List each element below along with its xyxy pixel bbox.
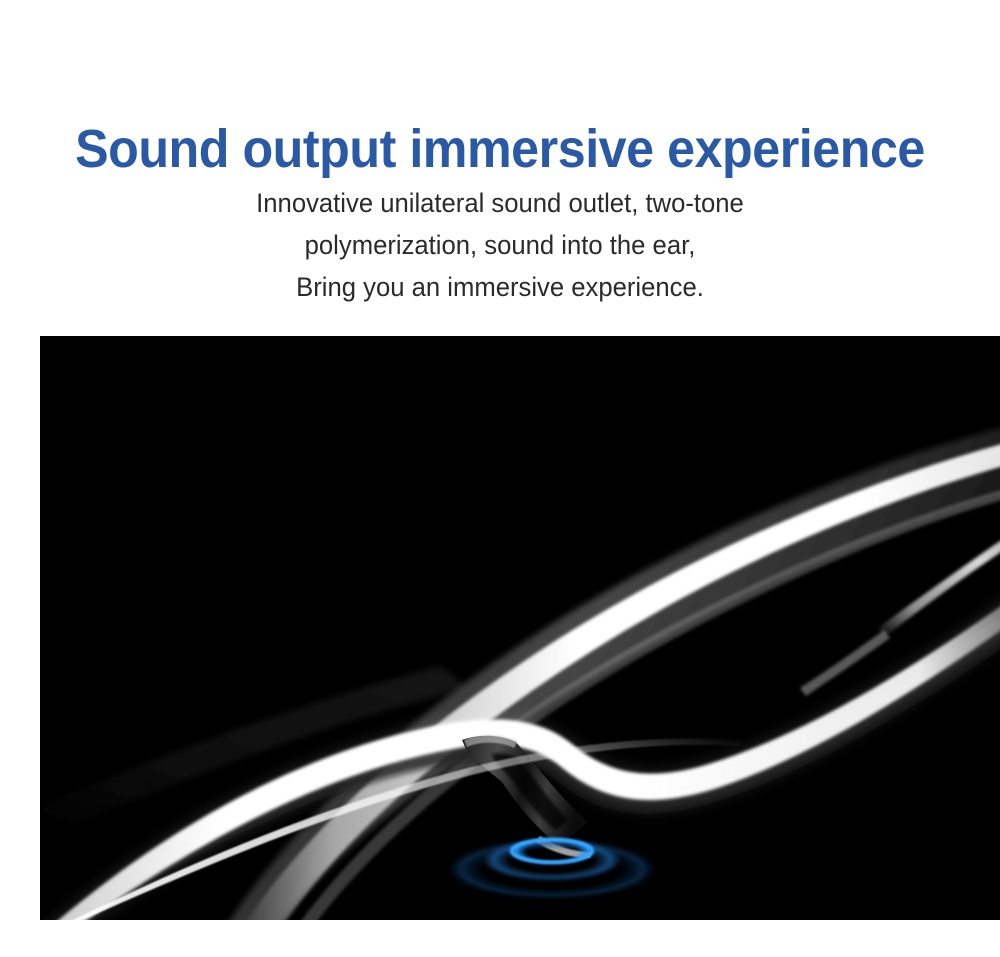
subtitle-line-3: Bring you an immersive experience.	[25, 266, 975, 308]
subtitle-block: Innovative unilateral sound outlet, two-…	[25, 182, 975, 308]
page-title: Sound output immersive experience	[35, 120, 965, 178]
product-feature-page: Sound output immersive experience Innova…	[0, 0, 1000, 957]
product-photo	[40, 336, 1000, 936]
subtitle-line-1: Innovative unilateral sound outlet, two-…	[25, 182, 975, 224]
text-section: Sound output immersive experience Innova…	[0, 0, 1000, 320]
product-photo-illustration	[40, 336, 1000, 936]
subtitle-line-2: polymerization, sound into the ear,	[25, 224, 975, 266]
photo-bottom-margin	[0, 920, 1000, 957]
